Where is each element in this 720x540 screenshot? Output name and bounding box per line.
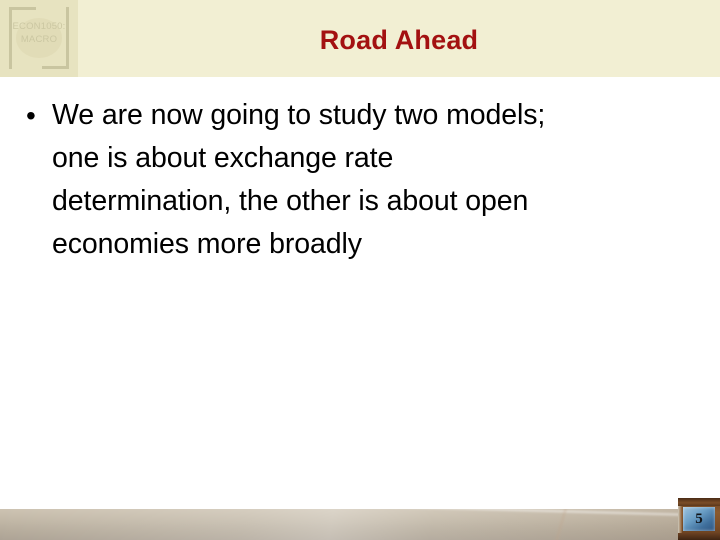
slide-number: 5 bbox=[683, 507, 715, 531]
course-logo: ECON1050: MACRO bbox=[0, 0, 78, 77]
page-title: Road Ahead bbox=[78, 25, 720, 56]
slide-number-plaque: 5 bbox=[678, 498, 720, 540]
decorative-photo-band bbox=[0, 509, 720, 540]
logo-bracket-bottom-right-icon bbox=[42, 44, 69, 69]
plaque-frame-bottom bbox=[678, 533, 720, 540]
bullet-list-item: • We are now going to study two models; … bbox=[26, 94, 696, 266]
bullet-item-text: We are now going to study two models; on… bbox=[52, 94, 696, 266]
slide-canvas: ECON1050: MACRO Road Ahead • We are now … bbox=[0, 0, 720, 540]
course-logo-label: ECON1050: MACRO bbox=[0, 20, 78, 46]
bullet-point-icon: • bbox=[26, 94, 52, 138]
plaque-frame-top bbox=[678, 498, 720, 506]
slide-body: • We are now going to study two models; … bbox=[0, 77, 720, 509]
